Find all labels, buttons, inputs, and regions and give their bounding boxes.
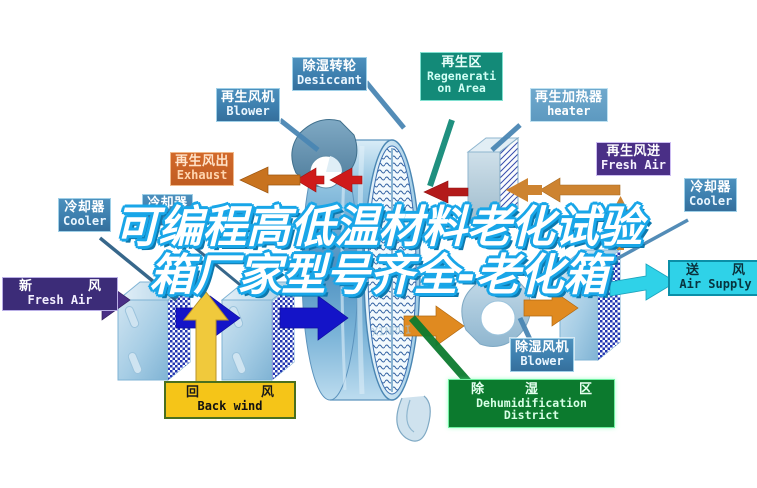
label-desiccant: 除湿转轮 Desiccant	[292, 57, 367, 91]
rotor-drive-loop	[397, 396, 430, 441]
label-dehum-district-cn: 除 湿 区	[457, 383, 606, 397]
label-exhaust-cn: 再生风出	[175, 155, 229, 169]
dehumidification-blower	[462, 274, 531, 347]
label-cooler-left-2: 冷却器	[142, 194, 193, 226]
label-regen-blower-cn: 再生风机	[221, 91, 275, 105]
label-desiccant-en: Desiccant	[297, 74, 362, 87]
label-fresh-air-cn: 新 风	[9, 280, 111, 294]
label-dehumidification-district: 除 湿 区 Dehumidification District	[448, 379, 615, 428]
label-regen-fresh-air-cn: 再生风进	[601, 145, 666, 159]
label-regeneration-area: 再生区 Regenerati on Area	[420, 52, 503, 101]
label-regen-heater-cn: 再生加热器	[535, 91, 603, 105]
label-cooler-left-1: 冷却器 Cooler	[58, 198, 111, 232]
label-fresh-air-en: Fresh Air	[9, 294, 111, 307]
label-back-wind: 回 风 Back wind	[164, 381, 296, 419]
label-regen-fresh-air: 再生风进 Fresh Air	[596, 142, 671, 176]
label-dehum-blower-en: Blower	[515, 355, 569, 368]
label-dehum-district-en2: District	[457, 409, 606, 421]
label-regen-heater-en: heater	[535, 105, 603, 118]
label-exhaust: 再生风出 Exhaust	[170, 152, 234, 186]
label-air-supply-cn: 送 风	[676, 264, 755, 278]
label-regen-area-cn: 再生区	[427, 56, 496, 70]
arrow-regen-intake	[506, 178, 630, 250]
label-regen-area-en2: on Area	[427, 82, 496, 94]
label-back-wind-en: Back wind	[174, 400, 286, 413]
dehumidifier-schematic: XINRUI	[0, 0, 757, 488]
label-cooler-right-en: Cooler	[689, 195, 732, 208]
label-cooler-right: 冷却器 Cooler	[684, 178, 737, 212]
label-air-supply-en: Air Supply	[676, 278, 755, 291]
label-regeneration-blower: 再生风机 Blower	[216, 88, 280, 122]
cooler-unit-2	[222, 282, 294, 380]
label-regen-fresh-air-en: Fresh Air	[601, 159, 666, 172]
label-fresh-air: 新 风 Fresh Air	[2, 277, 118, 311]
label-exhaust-en: Exhaust	[175, 169, 229, 182]
diagram-canvas: XINRUI 除湿转轮 Desiccant 再生风机 Blower 再生区 Re…	[0, 0, 757, 488]
label-cooler-right-cn: 冷却器	[689, 181, 732, 195]
arrow-exhaust	[240, 167, 300, 193]
label-desiccant-cn: 除湿转轮	[297, 60, 362, 74]
label-regeneration-heater: 再生加热器 heater	[530, 88, 608, 122]
label-dehumidification-blower: 除湿风机 Blower	[510, 338, 574, 372]
label-cooler-left-1-en: Cooler	[63, 215, 106, 228]
label-regen-blower-en: Blower	[221, 105, 275, 118]
label-dehum-blower-cn: 除湿风机	[515, 341, 569, 355]
svg-text:XINRUI: XINRUI	[371, 323, 412, 339]
label-air-supply: 送 风 Air Supply	[668, 260, 757, 296]
label-back-wind-cn: 回 风	[174, 386, 286, 400]
label-cooler-left-2-cn: 冷却器	[147, 197, 188, 211]
label-cooler-left-1-cn: 冷却器	[63, 201, 106, 215]
cooler-unit-1	[118, 282, 190, 380]
